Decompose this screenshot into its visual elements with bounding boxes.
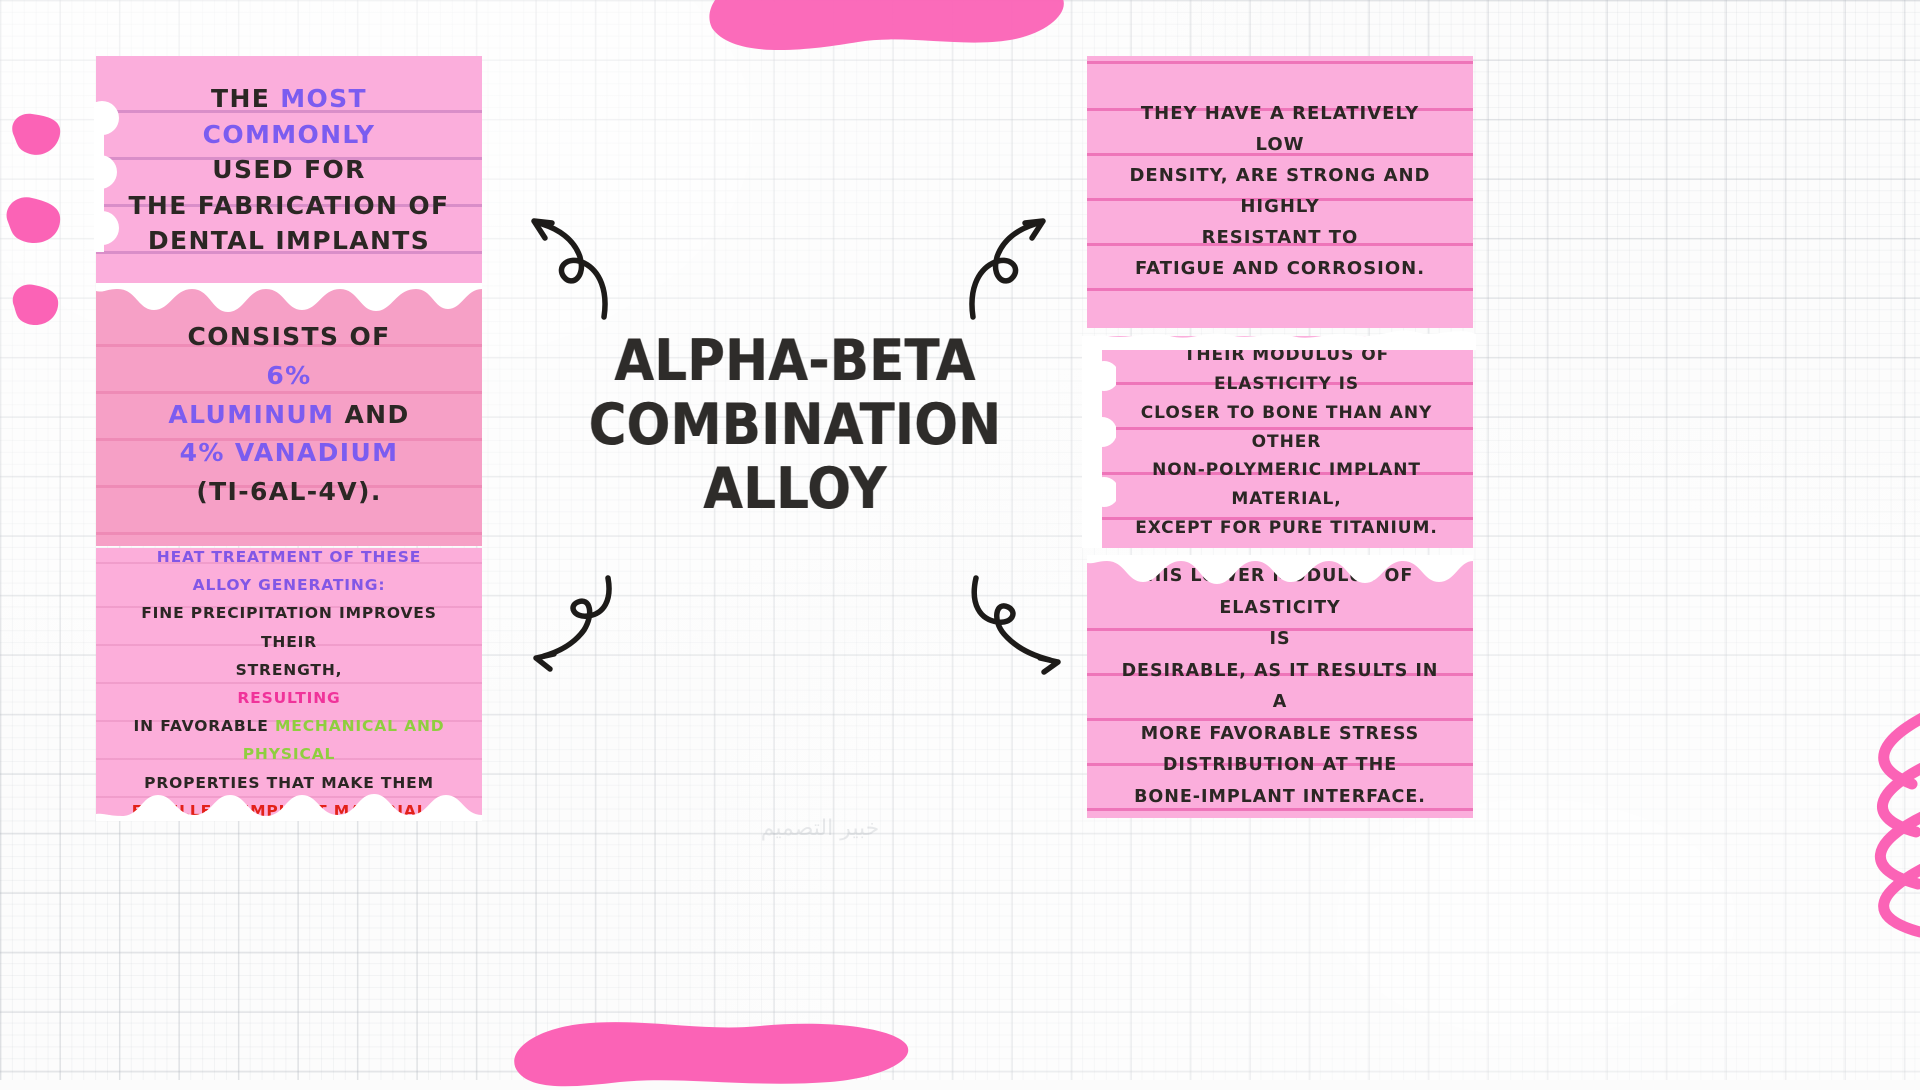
card-line: NON-POLYMERIC IMPLANT [1126,456,1447,485]
card-line: (TI-6AL-4V). [122,473,456,512]
card-stress-distribution[interactable]: HIS LOWER MODULUS OF ELASTICITY IS DESIR… [1087,556,1473,818]
card-line: FINE PRECIPITATION IMPROVES THEIR [122,599,456,655]
card-line: CLOSER TO BONE THAN ANY OTHER [1126,399,1447,457]
card-text: THE MOST COMMONLY USED FOR THE FABRICATI… [122,81,456,259]
card-line: IN FAVORABLE MECHANICAL AND PHYSICAL [122,712,456,768]
card-line: USED FOR [122,152,456,188]
card-line: THEIR MODULUS OF ELASTICITY IS [1126,341,1447,399]
page-title: ALPHA-BETA COMBINATION ALLOY [584,330,1007,521]
card-line: RESISTANT TO [1113,223,1447,254]
card-text: THEIR MODULUS OF ELASTICITY IS CLOSER TO… [1126,341,1447,543]
card-line: IS [1113,624,1447,656]
card-line: DESIRABLE, AS IT RESULTS IN A [1113,656,1447,719]
card-line: CONSISTS OF [122,318,456,357]
title-line-2: COMBINATION [584,394,1007,458]
card-line: BONE-IMPLANT INTERFACE. [1113,782,1447,814]
card-line: EXCELLENT IMPLANT MATERIALS. [122,797,456,825]
card-line: DENSITY, ARE STRONG AND HIGHLY [1113,161,1447,223]
card-line: THEY HAVE A RELATIVELY LOW [1113,99,1447,161]
card-line: STRENGTH, [122,656,456,684]
watermark-text: خبير التصميم [720,816,920,841]
card-line: MORE FAVORABLE STRESS [1113,719,1447,751]
card-line: HIS LOWER MODULUS OF ELASTICITY [1113,561,1447,624]
card-text: HEAT TREATMENT OF THESE ALLOY GENERATING… [122,543,456,825]
text-segment: THE [211,84,280,113]
card-line: DISTRIBUTION AT THE [1113,750,1447,782]
title-line-3: ALLOY [584,458,1007,522]
card-line: FATIGUE AND CORROSION. [1113,254,1447,285]
card-text: CONSISTS OF 6% ALUMINUM AND 4% VANADIUM … [122,318,456,512]
card-line: RESULTING [122,684,456,712]
watermark: خبير التصميم [720,816,920,864]
card-line: ALUMINUM AND [122,396,456,435]
card-composition[interactable]: CONSISTS OF 6% ALUMINUM AND 4% VANADIUM … [96,284,482,546]
card-text: THEY HAVE A RELATIVELY LOW DENSITY, ARE … [1113,99,1447,285]
text-segment: ALUMINUM [168,400,344,429]
card-line: PROPERTIES THAT MAKE THEM [122,769,456,797]
text-segment: AND [344,400,409,429]
card-line: 4% VANADIUM [122,434,456,473]
card-line: MATERIAL, [1126,485,1447,514]
card-line: THE MOST COMMONLY [122,81,456,152]
card-line: ALLOY GENERATING: [122,571,456,599]
card-modulus-of-elasticity[interactable]: THEIR MODULUS OF ELASTICITY IS CLOSER TO… [1100,336,1473,548]
card-line: EXCEPT FOR PURE TITANIUM. [1126,514,1447,543]
card-most-commonly-used[interactable]: THE MOST COMMONLY USED FOR THE FABRICATI… [96,56,482,284]
text-segment: IN FAVORABLE [134,717,275,735]
title-line-1: ALPHA-BETA [584,330,1007,394]
card-line: 6% [122,357,456,396]
drip-top-edge [96,283,482,317]
card-line: THE FABRICATION OF [122,188,456,224]
card-line: HEAT TREATMENT OF THESE [122,543,456,571]
card-density-strength[interactable]: THEY HAVE A RELATIVELY LOW DENSITY, ARE … [1087,56,1473,328]
card-line: DENTAL IMPLANTS [122,223,456,259]
card-text: HIS LOWER MODULUS OF ELASTICITY IS DESIR… [1113,561,1447,813]
card-heat-treatment[interactable]: HEAT TREATMENT OF THESE ALLOY GENERATING… [96,548,482,820]
